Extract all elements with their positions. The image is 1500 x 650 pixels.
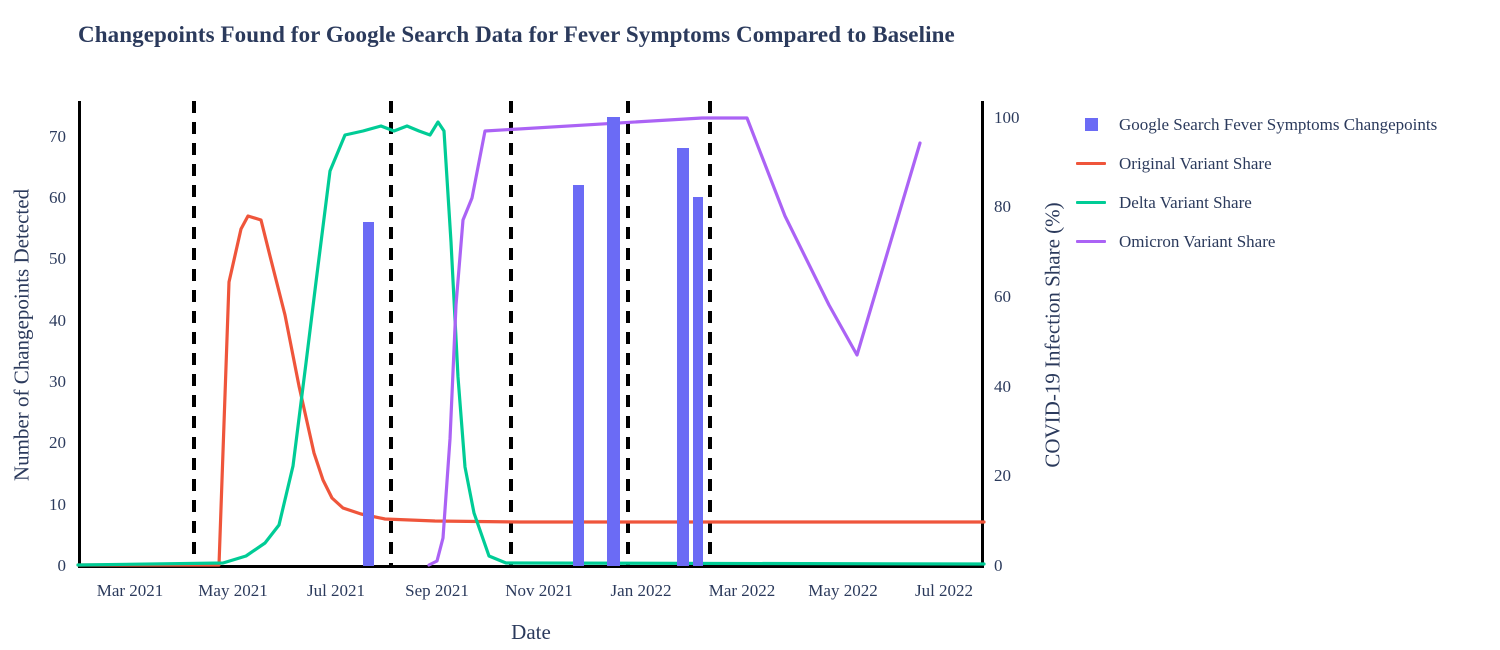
xtick-sep-2021: Sep 2021 [405, 581, 469, 601]
delta-variant-line [78, 122, 984, 565]
changepoint-bar-2022-02-02 [677, 148, 689, 566]
left-axis-label: Number of Changepoints Detected [10, 189, 35, 481]
legend-item-original[interactable]: Original Variant Share [1068, 144, 1498, 183]
page-title: Changepoints Found for Google Search Dat… [78, 22, 955, 48]
original-variant-line [78, 216, 984, 565]
xtick-may-2021: May 2021 [198, 581, 267, 601]
xtick-mar-2021: Mar 2021 [97, 581, 164, 601]
right-axis-label: COVID-19 Infection Share (%) [1041, 202, 1066, 467]
ytick-left-30: 30 [49, 372, 66, 392]
xtick-mar-2022: Mar 2022 [709, 581, 776, 601]
legend-square-swatch-icon [1068, 118, 1114, 131]
ytick-left-40: 40 [49, 311, 66, 331]
legend-label-omicron: Omicron Variant Share [1119, 232, 1275, 252]
changepoint-bar-2022-02-12 [693, 197, 703, 566]
ytick-left-0: 0 [58, 556, 67, 576]
legend-line-swatch-icon [1068, 201, 1114, 204]
ytick-left-50: 50 [49, 249, 66, 269]
xtick-jul-2021: Jul 2021 [307, 581, 365, 601]
ytick-left-10: 10 [49, 495, 66, 515]
ytick-right-20: 20 [994, 466, 1011, 486]
changepoint-bar-2021-12-06 [573, 185, 584, 566]
omicron-variant-line [429, 118, 920, 565]
ytick-left-20: 20 [49, 433, 66, 453]
changepoint-bar-2021-12-26 [607, 117, 620, 566]
x-axis-label: Date [511, 620, 551, 645]
legend-label-delta: Delta Variant Share [1119, 193, 1252, 213]
xtick-may-2022: May 2022 [808, 581, 877, 601]
ytick-right-40: 40 [994, 377, 1011, 397]
legend-line-swatch-icon [1068, 162, 1114, 165]
legend-item-delta[interactable]: Delta Variant Share [1068, 183, 1498, 222]
ytick-left-60: 60 [49, 188, 66, 208]
legend-item-omicron[interactable]: Omicron Variant Share [1068, 222, 1498, 261]
chart-legend: Google Search Fever Symptoms Changepoint… [1068, 105, 1498, 261]
legend-item-changepoints[interactable]: Google Search Fever Symptoms Changepoint… [1068, 105, 1498, 144]
xtick-jan-2022: Jan 2022 [611, 581, 672, 601]
plot-area: 0 10 20 30 40 50 60 70 0 20 40 60 80 100… [78, 101, 984, 568]
chart-figure: Changepoints Found for Google Search Dat… [0, 0, 1500, 650]
ytick-left-70: 70 [49, 127, 66, 147]
ytick-right-100: 100 [994, 108, 1020, 128]
legend-label-changepoints: Google Search Fever Symptoms Changepoint… [1119, 115, 1437, 135]
variant-share-curves [78, 101, 984, 568]
legend-label-original: Original Variant Share [1119, 154, 1272, 174]
xtick-jul-2022: Jul 2022 [915, 581, 973, 601]
changepoint-bar-2021-08-06 [363, 222, 374, 566]
ytick-right-60: 60 [994, 287, 1011, 307]
xtick-nov-2021: Nov 2021 [505, 581, 573, 601]
ytick-right-0: 0 [994, 556, 1003, 576]
ytick-right-80: 80 [994, 197, 1011, 217]
legend-line-swatch-icon [1068, 240, 1114, 243]
